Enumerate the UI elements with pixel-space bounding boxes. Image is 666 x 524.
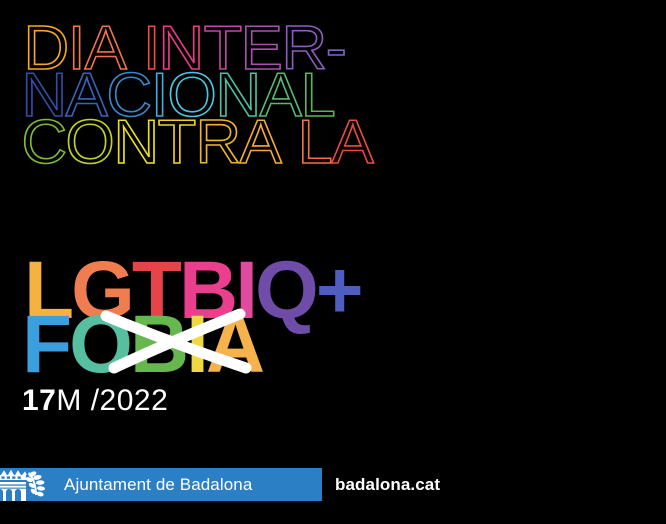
- headline-char: R: [195, 121, 240, 166]
- acronym-char: +: [316, 250, 361, 332]
- footer: Ajuntament de Badalona badalona.cat: [0, 468, 666, 501]
- footer-institution-label: Ajuntament de Badalona: [64, 475, 252, 495]
- headline-char: A: [331, 121, 373, 166]
- headline-char: O: [66, 121, 115, 166]
- headline-char: A: [240, 121, 282, 166]
- acronym-line-fobia: FOBIA: [22, 304, 262, 386]
- footer-blue-bar: Ajuntament de Badalona: [0, 468, 322, 501]
- headline-char: [281, 121, 298, 166]
- headline-char: L: [297, 121, 332, 166]
- acronym-char: B: [130, 304, 186, 386]
- footer-website-link[interactable]: badalona.cat: [335, 468, 440, 501]
- badalona-coat-of-arms-icon: [0, 468, 48, 501]
- headline-char: T: [158, 121, 196, 166]
- acronym-char: I: [186, 304, 206, 386]
- acronym-block: LGTBIQ+ FOBIA: [22, 250, 442, 380]
- headline-char: N: [114, 121, 159, 166]
- acronym-char: O: [69, 304, 130, 386]
- acronym-char: A: [206, 304, 262, 386]
- headline-block: DIA INTER- NACIONAL CONTRA LA: [22, 27, 462, 168]
- headline-char: C: [22, 121, 67, 166]
- poster-canvas: DIA INTER- NACIONAL CONTRA LA LGTBIQ+ FO…: [0, 0, 666, 524]
- headline-row-3: CONTRA LA: [22, 121, 462, 168]
- acronym-char: Q: [255, 250, 316, 332]
- acronym-char: F: [22, 304, 69, 386]
